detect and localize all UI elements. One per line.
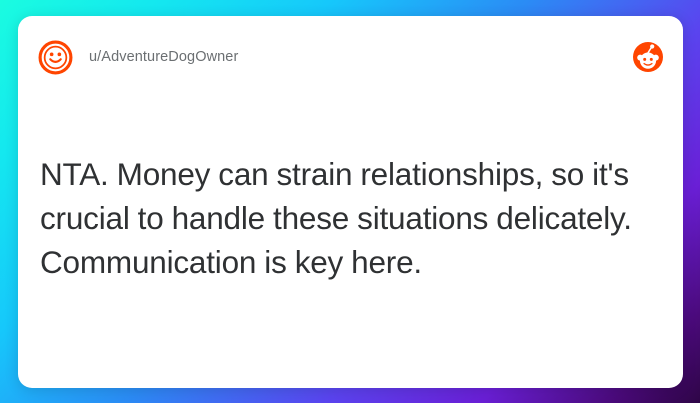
reddit-snoo-logo-icon xyxy=(633,42,663,72)
post-body-text: NTA. Money can strain relationships, so … xyxy=(40,152,664,284)
reddit-comment-card: u/AdventureDogOwner NTA. Money can strai… xyxy=(18,16,683,388)
card-header: u/AdventureDogOwner xyxy=(38,37,663,77)
brand-logo-wrap[interactable] xyxy=(633,42,663,72)
avatar[interactable] xyxy=(38,40,73,75)
smiley-face-avatar-icon xyxy=(38,40,73,75)
screenshot-root: u/AdventureDogOwner NTA. Money can strai… xyxy=(0,0,700,403)
username-label: u/AdventureDogOwner xyxy=(89,49,238,65)
